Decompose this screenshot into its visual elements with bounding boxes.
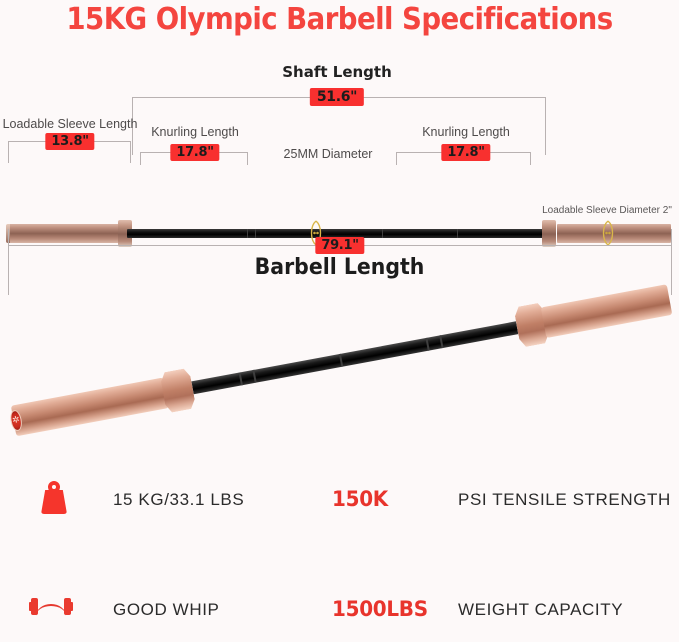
shaft-length-value: 51.6" [310,88,364,106]
barbell-length-value: 79.1" [315,237,364,254]
spec-whip-text: GOOD WHIP [113,600,219,620]
knurling-left-label: Knurling Length [151,125,239,139]
product-left-sleeve [10,378,168,437]
barbell-left-sleeve [8,224,123,243]
loadable-sleeve-length-label: Loadable Sleeve Length [3,117,138,131]
spec-row-whip: GOOD WHIP 1500LBS WEIGHT CAPACITY [0,578,679,642]
spec-tensile-text: PSI TENSILE STRENGTH [458,490,671,510]
shaft-diameter-label: 25MM Diameter [284,147,373,161]
barbell-length-tick-right [671,229,672,295]
product-right-sleeve [540,284,672,338]
loadable-sleeve-tick-left [8,141,9,163]
barbell-right-collar [542,220,556,247]
spec-capacity-number: 1500LBS [332,597,428,621]
weight-icon [33,476,79,522]
specifications-diagram: Shaft Length 51.6" Loadable Sleeve Lengt… [0,55,679,285]
loadable-sleeve-diameter-label: Loadable Sleeve Diameter 2" [542,205,672,216]
knurling-left-tick-left [140,152,141,165]
knurling-right-label: Knurling Length [422,125,510,139]
brand-glyph: ✲ [11,415,20,425]
page-title: 15KG Olympic Barbell Specifications [27,2,652,37]
knurling-left-value: 17.8" [170,144,219,161]
knurling-right-tick-left [396,152,397,165]
spec-weight-text: 15 KG/33.1 LBS [113,490,244,510]
product-shaft [191,321,518,394]
loadable-sleeve-tick-right [130,141,131,163]
barbell-length-label: Barbell Length [24,255,655,280]
spec-capacity-text: WEIGHT CAPACITY [458,600,623,620]
whip-icon [29,586,75,632]
spec-row-weight: 15 KG/33.1 LBS 150K PSI TENSILE STRENGTH [0,468,679,532]
shaft-length-tick-right [545,97,546,155]
loadable-sleeve-length-value: 13.8" [45,133,94,150]
knurling-right-value: 17.8" [441,144,490,161]
knurling-right-tick-right [530,152,531,165]
knurling-left-tick-right [247,152,248,165]
shaft-length-label: Shaft Length [282,63,392,81]
barbell-product-image: ✲ [0,295,679,425]
sleeve-diameter-caliper-icon [601,220,615,246]
spec-tensile-number: 150K [332,487,388,511]
barbell-length-tick-left [8,229,9,295]
